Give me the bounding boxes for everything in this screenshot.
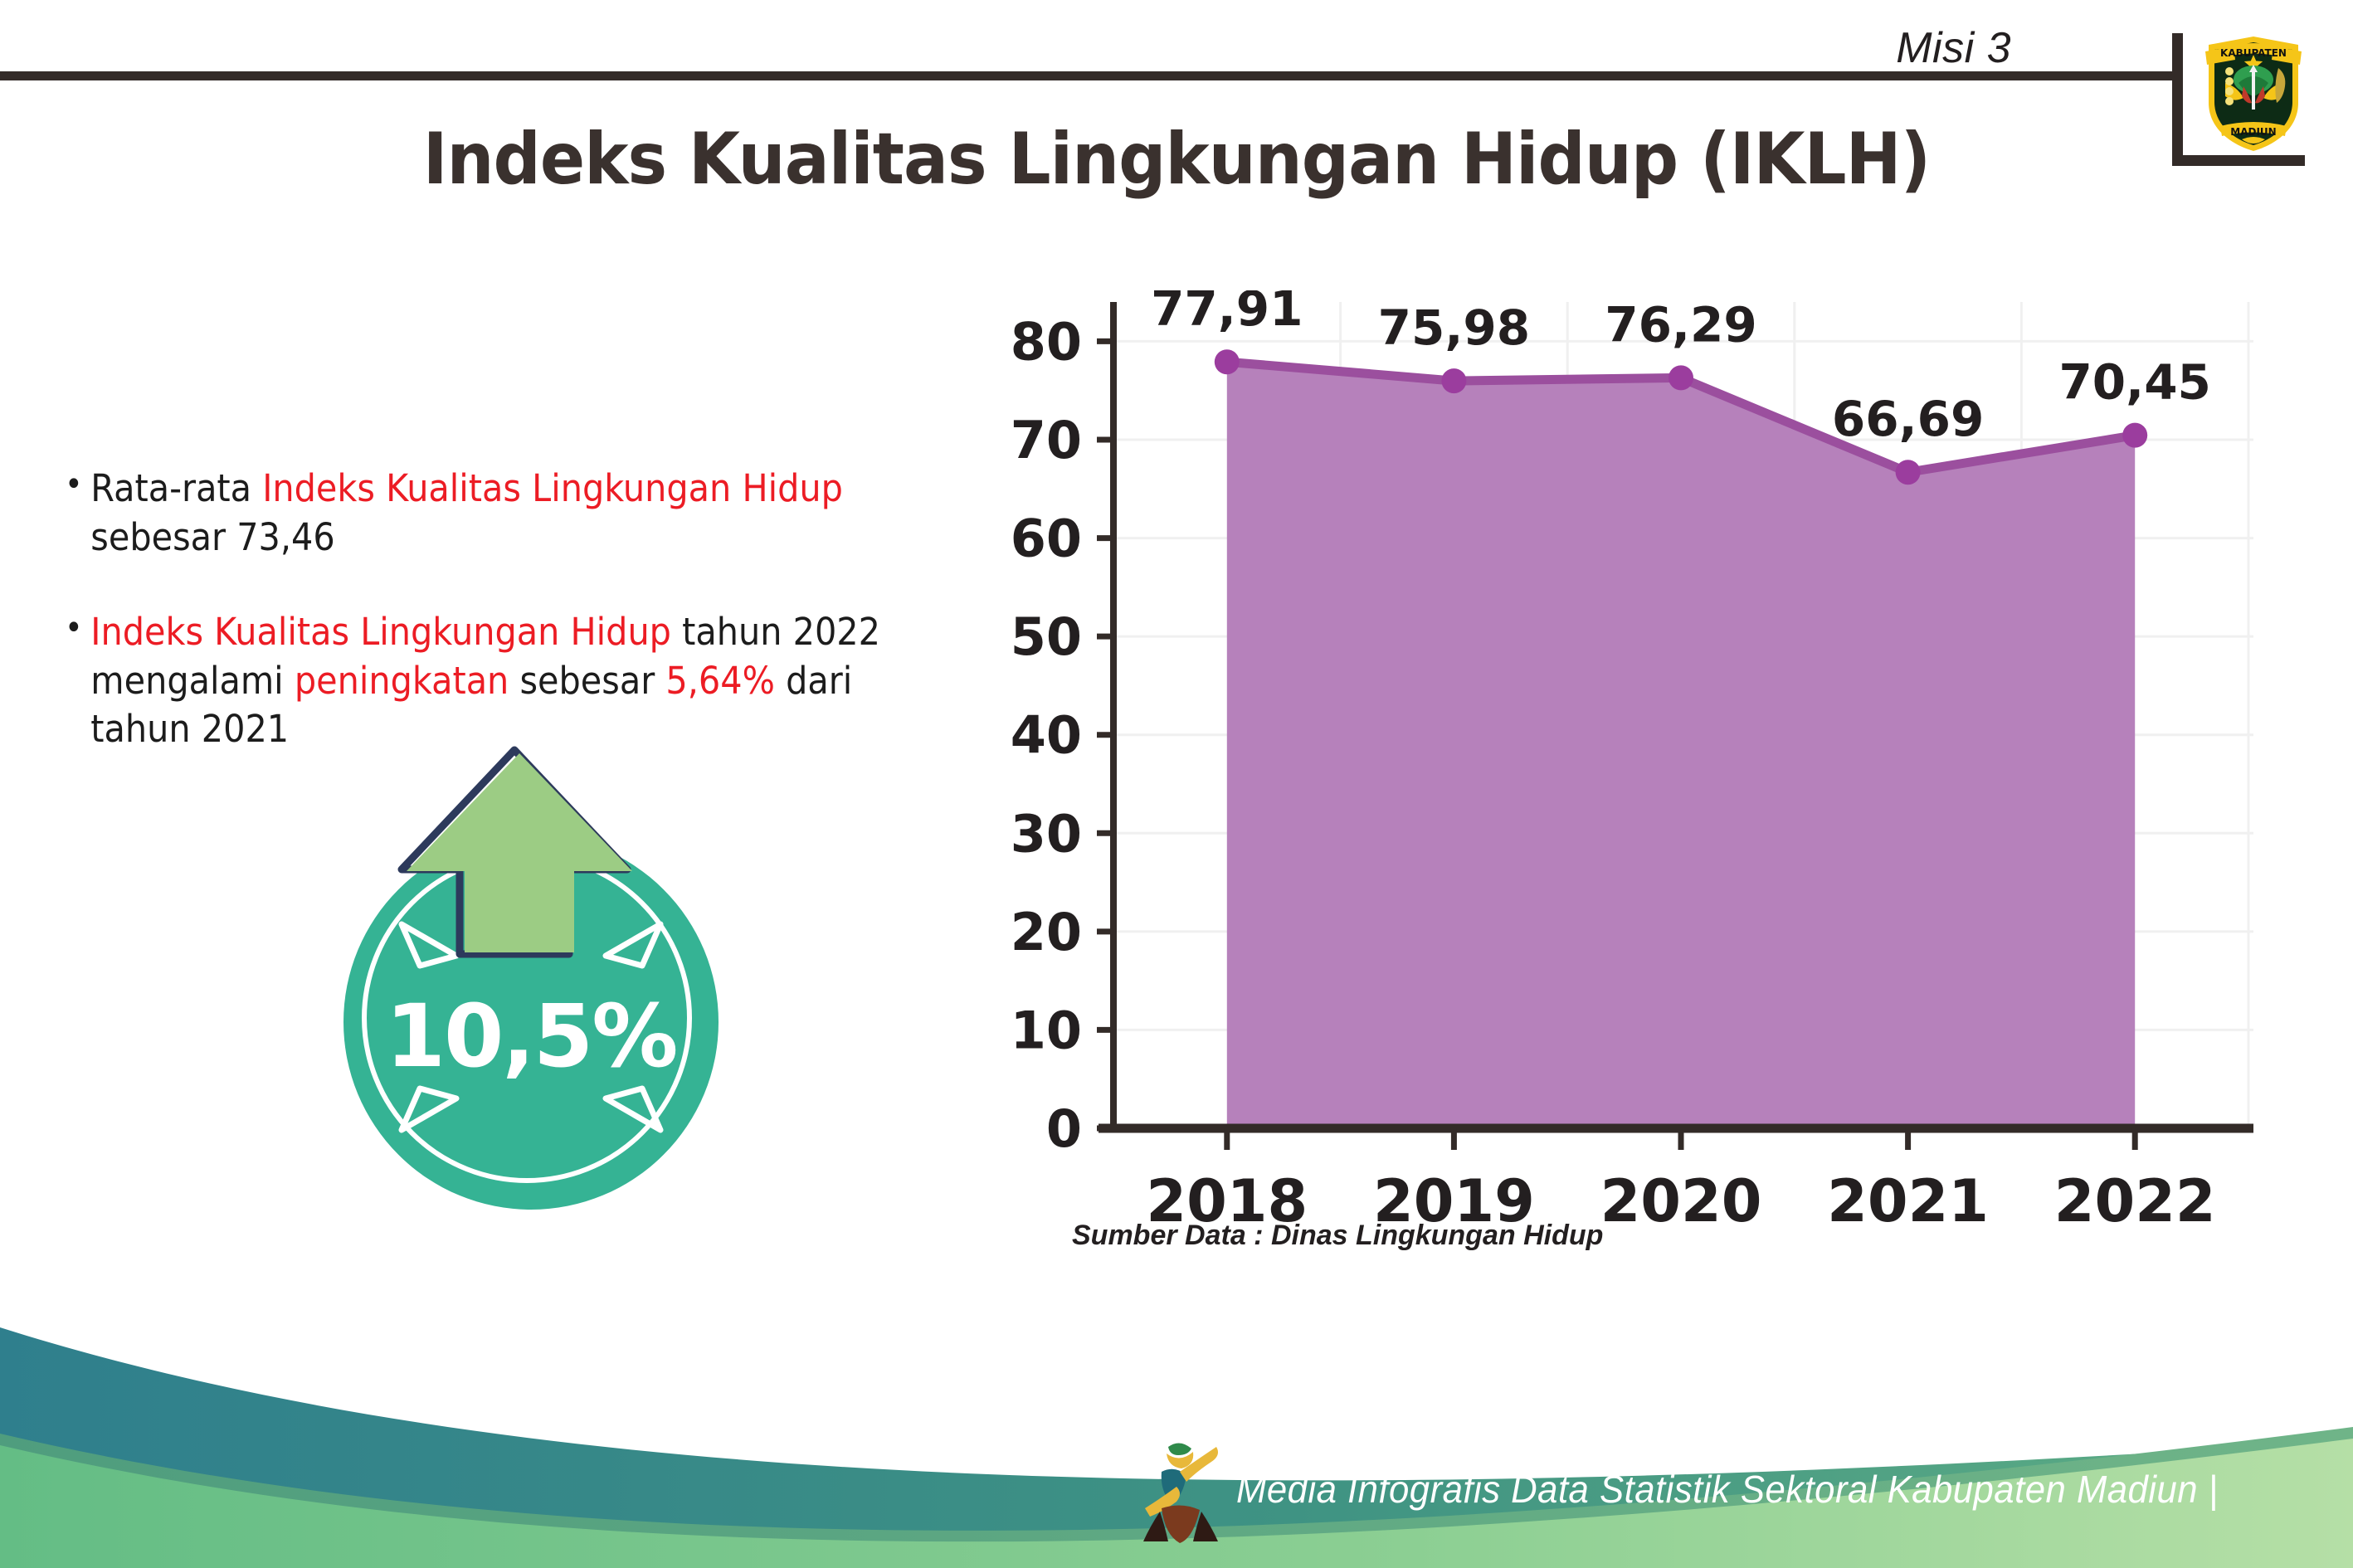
- chart-y-tick-label: 80: [1011, 311, 1082, 372]
- chart-y-tick-label: 40: [1011, 705, 1082, 766]
- bullet-2-segment-4: sebesar: [509, 659, 665, 703]
- chart-data-label: 76,29: [1605, 296, 1756, 353]
- chart-data-label: 77,91: [1151, 290, 1303, 337]
- growth-badge: 10,5%: [325, 745, 757, 1210]
- misi-label: Misi 3: [1896, 23, 2011, 73]
- chart-data-label: 66,69: [1832, 391, 1984, 447]
- bullet-1-segment-2: Indeks Kualitas Lingkungan Hidup: [262, 466, 843, 510]
- bullet-2-segment-3: peningkatan: [295, 659, 509, 703]
- chart-y-tick-label: 0: [1046, 1098, 1082, 1159]
- page-title: Indeks Kualitas Lingkungan Hidup (IKLH): [82, 118, 2270, 201]
- chart-source-note: Sumber Data : Dinas Lingkungan Hidup: [1072, 1220, 1603, 1252]
- chart-x-tick-label: 2022: [2054, 1167, 2216, 1235]
- badge-value: 10,5%: [343, 986, 719, 1087]
- chart-data-label: 75,98: [1378, 299, 1530, 356]
- bullet-2-segment-5: 5,64%: [665, 659, 775, 703]
- chart-data-point[interactable]: [1441, 368, 1466, 393]
- header-rule: [0, 71, 2182, 80]
- chart-y-tick-label: 60: [1011, 509, 1082, 569]
- chart-data-point[interactable]: [1896, 460, 1921, 485]
- chart-y-tick-label: 10: [1011, 1000, 1082, 1060]
- bullet-1-segment-3: sebesar 73,46: [90, 515, 334, 559]
- footer-text: Media Infografis Data Statistik Sektoral…: [1236, 1467, 2219, 1512]
- bullet-2-segment-1: Indeks Kualitas Lingkungan Hidup: [90, 610, 671, 654]
- chart-y-tick-label: 30: [1011, 803, 1082, 864]
- statistics-figure-logo-icon: [1137, 1432, 1225, 1545]
- bullet-1-segment-1: Rata-rata: [90, 466, 262, 510]
- iklh-area-chart: 77,9175,9876,2966,6970,45010203040506070…: [954, 290, 2298, 1286]
- chart-x-tick-label: 2020: [1600, 1167, 1762, 1235]
- summary-bullet-1: Rata-rata Indeks Kualitas Lingkungan Hid…: [65, 465, 889, 562]
- chart-data-point[interactable]: [2122, 423, 2147, 448]
- chart-data-label: 70,45: [2058, 354, 2210, 411]
- chart-x-tick-label: 2021: [1827, 1167, 1989, 1235]
- chart-area-fill: [1227, 362, 2135, 1128]
- chart-y-tick-label: 50: [1011, 606, 1082, 667]
- chart-data-point[interactable]: [1215, 349, 1240, 374]
- chart-data-point[interactable]: [1669, 365, 1693, 390]
- footer: Media Infografis Data Statistik Sektoral…: [0, 1294, 2353, 1568]
- chart-y-tick-label: 70: [1011, 410, 1082, 470]
- chart-y-tick-label: 20: [1011, 902, 1082, 962]
- up-arrow-icon: [390, 745, 639, 961]
- summary-bullet-2: Indeks Kualitas Lingkungan Hidup tahun 2…: [65, 608, 889, 754]
